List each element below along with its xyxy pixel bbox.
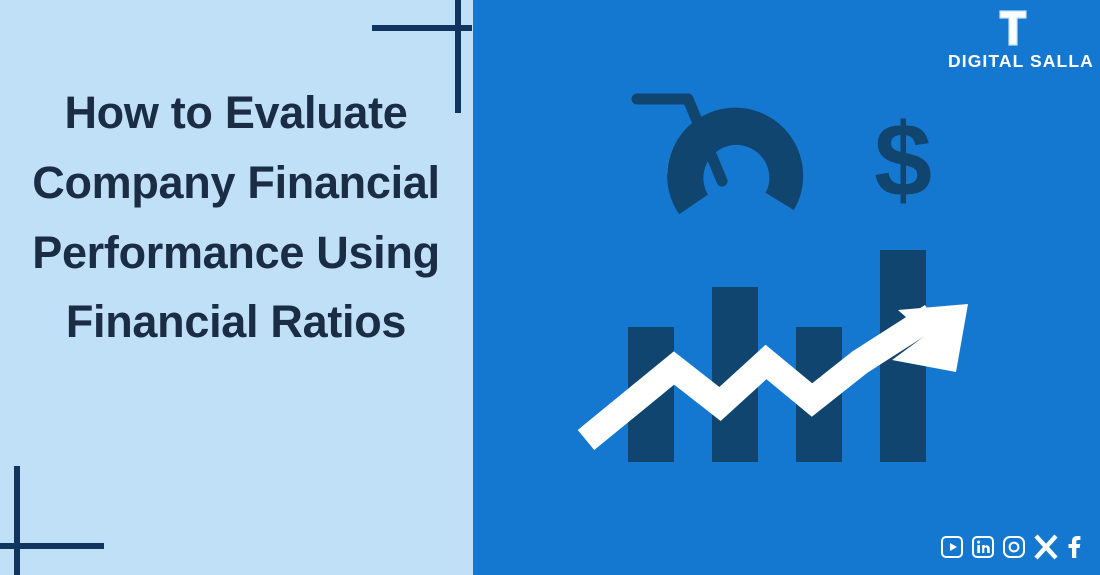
- crosshair-bottom-left-vertical-line: [14, 466, 20, 575]
- financial-illustration: $: [473, 0, 1100, 575]
- page-title: How to Evaluate Company Financial Perfor…: [30, 78, 442, 357]
- crosshair-top-right-vertical-line: [455, 0, 461, 113]
- letter-t-monogram-icon: [996, 8, 1030, 48]
- instagram-icon[interactable]: [1002, 535, 1026, 559]
- banner-root: How to Evaluate Company Financial Perfor…: [0, 0, 1100, 575]
- x-twitter-icon[interactable]: [1033, 533, 1059, 561]
- donut-chart: [637, 86, 824, 255]
- crosshair-bottom-left-horizontal-line: [0, 543, 104, 549]
- dollar-sign-icon: $: [874, 103, 932, 219]
- donut-segment-bottom-left: [650, 86, 824, 255]
- linkedin-icon[interactable]: [971, 535, 995, 559]
- facebook-icon[interactable]: [1066, 533, 1082, 561]
- brand-name: DIGITAL SALLA: [948, 51, 1078, 72]
- youtube-icon[interactable]: [940, 535, 964, 559]
- brand-logo: DIGITAL SALLA: [948, 8, 1078, 72]
- social-links-bar: [940, 533, 1082, 561]
